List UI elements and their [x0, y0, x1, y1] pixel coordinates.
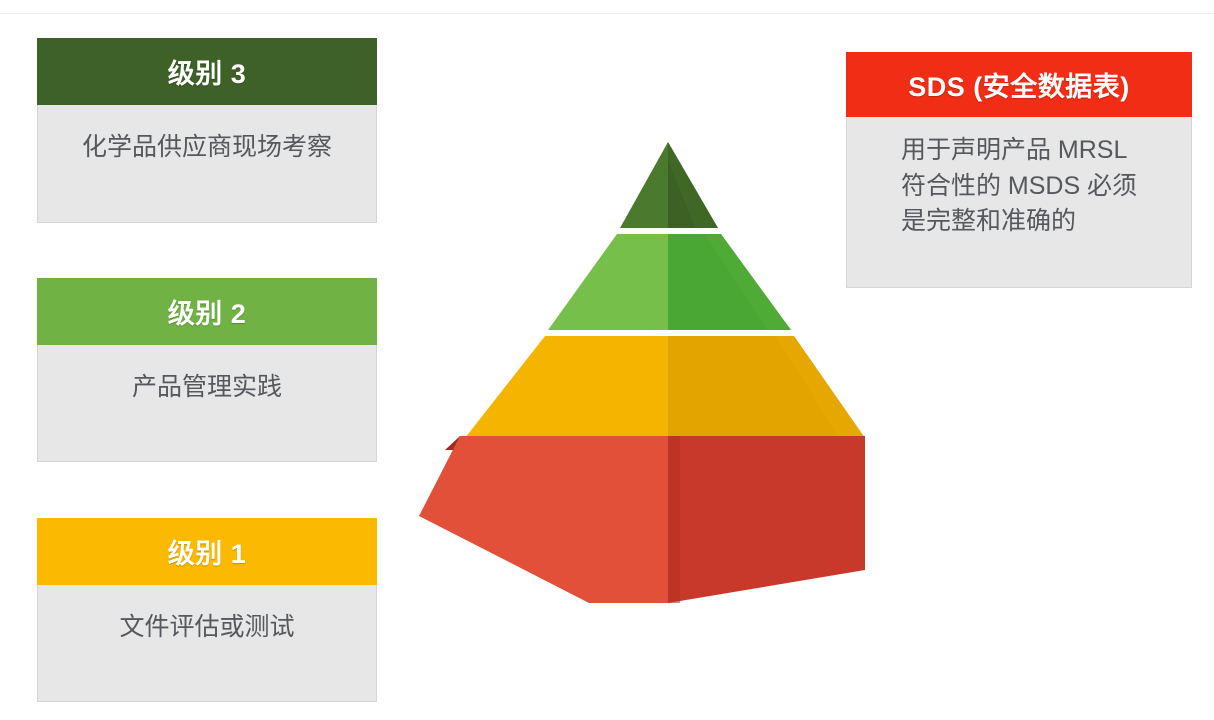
tier-level-3-left-face: [620, 142, 668, 228]
tier-level-1-left-face: [465, 336, 668, 438]
sds-card[interactable]: SDS (安全数据表) 用于声明产品 MRSL 符合性的 MSDS 必须 是完整…: [846, 52, 1192, 288]
level-2-header-label: 级别 2: [168, 292, 247, 331]
level-2-body: 产品管理实践: [37, 345, 377, 462]
sds-body-text: 用于声明产品 MRSL 符合性的 MSDS 必须 是完整和准确的: [881, 117, 1157, 240]
sds-header-label: SDS (安全数据表): [908, 65, 1130, 104]
level-2-body-text: 产品管理实践: [132, 345, 282, 405]
level-1-card[interactable]: 级别 1 文件评估或测试: [37, 518, 377, 702]
sds-body: 用于声明产品 MRSL 符合性的 MSDS 必须 是完整和准确的: [846, 117, 1192, 288]
pyramid-tier-sds: [419, 436, 865, 603]
level-2-card[interactable]: 级别 2 产品管理实践: [37, 278, 377, 462]
level-3-body: 化学品供应商现场考察: [37, 105, 377, 223]
level-1-header-label: 级别 1: [168, 532, 247, 571]
pyramid-tier-level-1: [450, 336, 865, 450]
level-1-body-text: 文件评估或测试: [119, 585, 294, 645]
level-3-header-label: 级别 3: [168, 52, 247, 91]
diagram-canvas: 级别 3 化学品供应商现场考察 级别 2 产品管理实践 级别 1 文件评估或测试…: [0, 0, 1214, 720]
tier-sds-right-face: [668, 436, 865, 603]
top-divider: [0, 13, 1214, 14]
tier-level-2-left-face: [548, 234, 668, 330]
sds-header: SDS (安全数据表): [846, 52, 1192, 117]
level-3-body-text: 化学品供应商现场考察: [82, 105, 332, 165]
level-3-header: 级别 3: [37, 38, 377, 105]
pyramid-tier-level-2: [548, 234, 791, 330]
level-3-card[interactable]: 级别 3 化学品供应商现场考察: [37, 38, 377, 223]
level-1-body: 文件评估或测试: [37, 585, 377, 702]
pyramid-tier-level-3: [620, 142, 718, 228]
level-2-header: 级别 2: [37, 278, 377, 345]
tier-sds-center-edge: [668, 436, 680, 603]
pyramid-svg: [395, 120, 865, 620]
tier-sds-left-face: [419, 436, 668, 603]
level-1-header: 级别 1: [37, 518, 377, 585]
pyramid-graphic: [395, 120, 865, 620]
